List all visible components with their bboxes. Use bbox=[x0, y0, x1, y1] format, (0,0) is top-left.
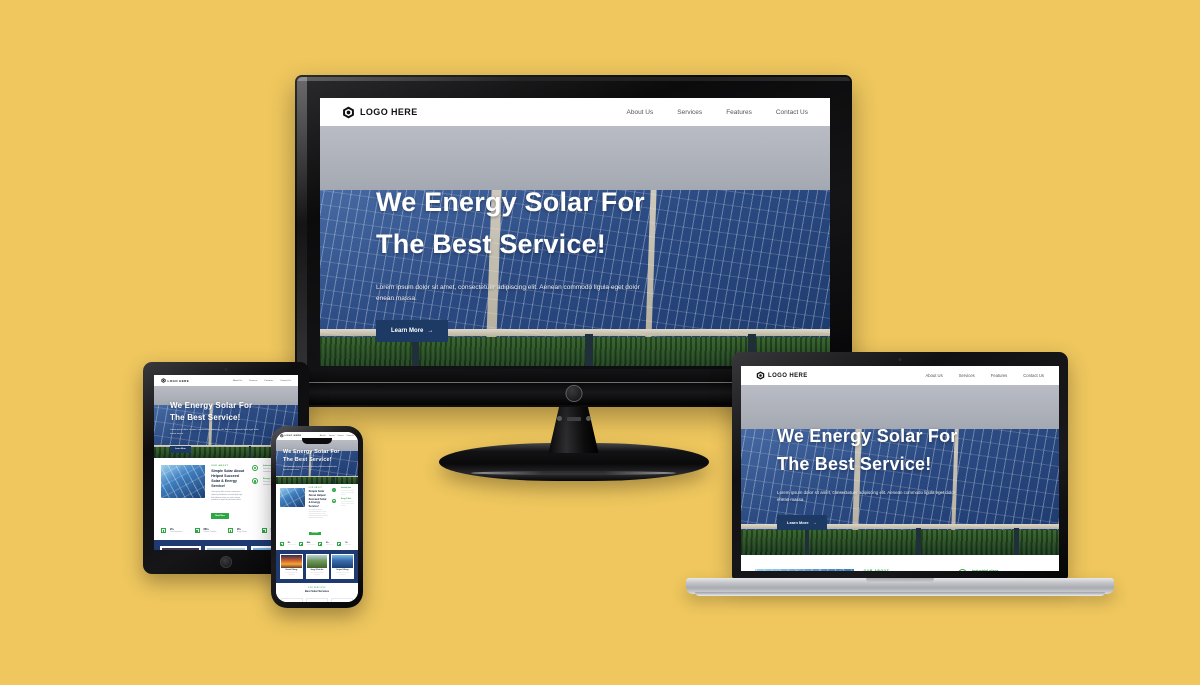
phone-screen: LOGO HERE About Us Services Features Con… bbox=[276, 432, 358, 602]
hero-learn-more-button[interactable]: Learn More → bbox=[777, 515, 827, 530]
feature-desc: Dolor sit amet consectetur elit sed do e… bbox=[341, 502, 354, 508]
feature-item: Energy Of Solar Dolor sit amet consectet… bbox=[332, 499, 354, 508]
laptop-screen: LOGO HERE About Us Services Features Con… bbox=[741, 366, 1059, 571]
hexagon-logo-icon bbox=[756, 371, 765, 380]
hero-heading-line1: We Energy Solar For bbox=[283, 448, 348, 456]
monitor-screen: LOGO HERE About Us Services Features Con… bbox=[320, 98, 830, 366]
hero-paragraph: Lorem ipsum dolor sit amet, consectetuer… bbox=[170, 429, 265, 436]
home-button-icon[interactable] bbox=[221, 557, 231, 567]
stat-item: 25+ Years Experience bbox=[161, 528, 191, 533]
menu-item-services[interactable]: Services bbox=[959, 373, 975, 378]
services-heading: Best Solar Services bbox=[281, 590, 353, 594]
front-camera-icon bbox=[225, 368, 228, 371]
about-heading: Simple Solar About Helped Succeed Solar … bbox=[309, 490, 329, 509]
menu-item-features[interactable]: Features bbox=[991, 373, 1008, 378]
laptop-open-notch bbox=[866, 578, 934, 583]
website-page-desktop: LOGO HERE About Us Services Features Con… bbox=[320, 98, 830, 366]
feature-item: Industrial plans Dolor sit amet consecte… bbox=[332, 488, 354, 497]
hero-heading-line1: We Energy Solar For bbox=[777, 423, 1021, 451]
about-photo bbox=[280, 488, 305, 507]
hero-learn-more-button[interactable]: Learn More → bbox=[376, 320, 448, 342]
content-card[interactable]: Designer Of Energy Lorem ipsum dolor sit… bbox=[331, 554, 354, 579]
stat-label: Happy Clients bbox=[326, 545, 333, 546]
stat-item: 860+ Projects Complete bbox=[299, 542, 316, 546]
site-menu: About Us Services Features Contact Us bbox=[233, 380, 291, 382]
hero-copy: We Energy Solar For The Best Service! Lo… bbox=[170, 400, 281, 454]
services-grid: Energy Of Solar Lorem ipsum dolor sit am… bbox=[281, 598, 353, 602]
hero-heading-line2: The Best Service! bbox=[283, 456, 348, 464]
industrial-plan-icon bbox=[332, 488, 336, 492]
menu-item-about[interactable]: About Us bbox=[320, 436, 326, 437]
about-heading: Simple Solar About Helped Succeed Solar … bbox=[211, 469, 246, 490]
card-desc: Lorem ipsum dolor sit amet consectetuer. bbox=[332, 573, 353, 578]
stat-label: Years Experience bbox=[170, 532, 182, 533]
green-hills-photo bbox=[307, 555, 328, 568]
smartphone-device[interactable]: LOGO HERE About Us Services Features Con… bbox=[271, 426, 363, 608]
menu-item-contact[interactable]: Contact Us bbox=[347, 436, 354, 437]
hexagon-logo-icon bbox=[280, 434, 284, 438]
about-section: OUR ABOUT Simple Solar About Helped Succ… bbox=[741, 555, 1059, 571]
hero-learn-more-button[interactable]: Learn More bbox=[170, 446, 191, 453]
about-feature-list: Industrial plans Dolor sit amet consecte… bbox=[958, 569, 1045, 571]
monitor-neck bbox=[549, 405, 599, 453]
plug-icon bbox=[195, 528, 200, 533]
laptop-foot-edge bbox=[695, 592, 1106, 596]
content-card[interactable]: Energy Of Solar Sun Lorem ipsum dolor si… bbox=[306, 554, 329, 579]
stat-value: 25+ bbox=[170, 528, 182, 531]
about-read-more-button[interactable]: Read More bbox=[211, 513, 229, 519]
brand-logo[interactable]: LOGO HERE bbox=[342, 106, 418, 119]
button-label: Learn More bbox=[391, 328, 423, 334]
sunset-windmill-photo bbox=[281, 555, 302, 568]
laptop-device[interactable]: LOGO HERE About Us Services Features Con… bbox=[686, 352, 1114, 602]
sunset-windmill-photo bbox=[162, 548, 199, 550]
stat-value: 70+ bbox=[345, 542, 351, 544]
tree-icon bbox=[262, 528, 267, 533]
feature-title: Energy Of Solar bbox=[341, 499, 354, 500]
stat-value: 95+ bbox=[326, 542, 333, 544]
about-read-more-button[interactable]: Read More bbox=[309, 532, 322, 536]
hero-heading-line2: The Best Service! bbox=[376, 224, 769, 266]
monitor-neck-detail bbox=[557, 415, 591, 422]
stat-label: Years Experience bbox=[288, 545, 297, 546]
laptop-base bbox=[686, 578, 1114, 594]
about-body: OUR ABOUT Simple Solar About Helped Succ… bbox=[211, 465, 246, 521]
hero-paragraph: Lorem ipsum dolor sit amet, consectetuer… bbox=[376, 282, 646, 304]
grass-layer bbox=[741, 530, 1059, 556]
arrow-right-icon: → bbox=[813, 520, 817, 525]
front-camera-icon bbox=[899, 358, 902, 361]
about-body: OUR ABOUT Simple Solar About Helped Succ… bbox=[864, 569, 948, 571]
cards-band: Renewal Of Energy Lorem ipsum dolor sit … bbox=[276, 550, 358, 583]
menu-item-services[interactable]: Services bbox=[677, 109, 702, 116]
about-photo bbox=[161, 465, 205, 498]
brand-name: LOGO HERE bbox=[360, 107, 418, 117]
menu-item-features[interactable]: Features bbox=[338, 436, 344, 437]
brand-name: LOGO HERE bbox=[285, 435, 302, 437]
feature-title: Industrial plans bbox=[341, 488, 354, 489]
industrial-plan-icon bbox=[958, 569, 967, 571]
service-card[interactable]: Industrial Solutions Lorem ipsum dolor s… bbox=[306, 598, 328, 602]
about-body: OUR ABOUT Simple Solar About Helped Succ… bbox=[309, 488, 329, 538]
hero-paragraph: Lorem ipsum dolor sit amet, consectetuer… bbox=[777, 489, 957, 504]
bezel-gloss-top bbox=[297, 77, 850, 81]
brand-name: LOGO HERE bbox=[168, 379, 190, 383]
brand-logo[interactable]: LOGO HERE bbox=[161, 378, 189, 383]
plug-icon bbox=[299, 542, 303, 546]
leaf-icon bbox=[228, 528, 233, 533]
hero-section: We Energy Solar For The Best Service! Lo… bbox=[154, 386, 298, 458]
about-section: OUR ABOUT Simple Solar About Helped Succ… bbox=[276, 484, 358, 542]
menu-item-about[interactable]: About Us bbox=[233, 380, 242, 382]
button-label: Learn More bbox=[175, 448, 186, 450]
stat-value: 95+ bbox=[237, 528, 247, 531]
hexagon-logo-icon bbox=[161, 378, 166, 383]
laptop-lid: LOGO HERE About Us Services Features Con… bbox=[732, 352, 1068, 579]
stat-item: 70+ Expert Team bbox=[337, 542, 354, 546]
about-feature-list: Industrial plans Dolor sit amet consecte… bbox=[332, 488, 354, 510]
service-card[interactable]: Energy Of Solar Lorem ipsum dolor sit am… bbox=[281, 598, 303, 602]
menu-item-features[interactable]: Features bbox=[265, 380, 274, 382]
stat-value: 25+ bbox=[288, 542, 297, 544]
hero-section: We Energy Solar For The Best Service! Lo… bbox=[276, 440, 358, 484]
site-navbar: LOGO HERE About Us Services Features Con… bbox=[320, 98, 830, 126]
about-eyebrow: OUR ABOUT bbox=[211, 465, 246, 467]
menu-item-services[interactable]: Services bbox=[249, 380, 257, 382]
feature-desc: Dolor sit amet consectetur elit sed do e… bbox=[341, 491, 354, 497]
hero-section: We Energy Solar For The Best Service! Lo… bbox=[320, 126, 830, 366]
brand-logo[interactable]: LOGO HERE bbox=[756, 371, 808, 380]
arrow-right-icon: → bbox=[427, 328, 433, 334]
stat-value: 860+ bbox=[307, 542, 316, 544]
about-eyebrow: OUR ABOUT bbox=[864, 569, 948, 571]
content-card[interactable]: Renewal Of Energy Lorem ipsum dolor sit … bbox=[160, 546, 201, 550]
button-label: Learn More bbox=[787, 520, 809, 525]
phone-notch bbox=[302, 438, 332, 444]
about-paragraph: Lorem ipsum dolor sit amet, consectetuer… bbox=[309, 510, 329, 520]
about-paragraph: Lorem ipsum dolor sit amet, consectetuer… bbox=[211, 492, 246, 503]
site-menu: About Us Services Features Contact Us bbox=[627, 109, 809, 116]
menu-item-services[interactable]: Services bbox=[329, 436, 335, 437]
about-eyebrow: OUR ABOUT bbox=[309, 488, 329, 489]
energy-solar-icon bbox=[332, 499, 336, 503]
stat-item: 95+ Happy Clients bbox=[228, 528, 258, 533]
site-menu: About Us Services Features Contact Us bbox=[320, 436, 354, 437]
hero-heading-line2: The Best Service! bbox=[170, 412, 281, 424]
about-photo bbox=[755, 569, 854, 571]
card-desc: Lorem ipsum dolor sit amet consectetuer. bbox=[307, 573, 328, 578]
hero-copy: We Energy Solar For The Best Service! Lo… bbox=[376, 182, 769, 342]
menu-item-contact[interactable]: Contact Us bbox=[280, 380, 291, 382]
bezel-gloss-left bbox=[297, 77, 307, 405]
hero-heading-line1: We Energy Solar For bbox=[376, 182, 769, 224]
hero-heading-line1: We Energy Solar For bbox=[170, 400, 281, 412]
stat-label: Projects Complete bbox=[307, 545, 316, 546]
service-card[interactable]: Renewable Power Lorem ipsum dolor sit am… bbox=[331, 598, 353, 602]
menu-item-contact[interactable]: Contact Us bbox=[776, 109, 808, 116]
stat-item: 25+ Years Experience bbox=[280, 542, 297, 546]
site-menu: About Us Services Features Contact Us bbox=[925, 373, 1044, 378]
content-card[interactable]: Renewal Of Energy Lorem ipsum dolor sit … bbox=[280, 554, 303, 579]
stats-row: 25+ Years Experience 860+ Projects Compl… bbox=[276, 542, 358, 550]
stat-item: 95+ Happy Clients bbox=[318, 542, 335, 546]
stat-item: 860+ Projects Complete bbox=[195, 528, 225, 533]
industrial-plan-icon bbox=[252, 465, 258, 471]
hero-copy: We Energy Solar For The Best Service! Lo… bbox=[283, 448, 348, 484]
website-page-laptop: LOGO HERE About Us Services Features Con… bbox=[741, 366, 1059, 571]
hero-copy: We Energy Solar For The Best Service! Lo… bbox=[777, 423, 1021, 530]
feature-item: Industrial plans Dolor sit amet consecte… bbox=[958, 569, 1045, 571]
stat-label: Happy Clients bbox=[237, 532, 247, 533]
feature-title: Industrial plans bbox=[972, 569, 1045, 571]
stat-label: Expert Team bbox=[345, 545, 351, 546]
hero-paragraph: Lorem ipsum dolor sit amet, consectetuer… bbox=[283, 467, 339, 472]
services-section: OUR SERVICES Best Solar Services Energy … bbox=[276, 583, 358, 602]
site-navbar: LOGO HERE About Us Services Features Con… bbox=[154, 375, 298, 386]
leaf-icon bbox=[318, 542, 322, 546]
battery-icon bbox=[280, 542, 284, 546]
brand-logo[interactable]: LOGO HERE bbox=[280, 434, 301, 438]
mockup-stage: LOGO HERE About Us Services Features Con… bbox=[0, 0, 1200, 685]
services-heading-block: OUR SERVICES Best Solar Services bbox=[281, 588, 353, 594]
services-eyebrow: OUR SERVICES bbox=[281, 588, 353, 589]
stat-label: Projects Complete bbox=[204, 532, 217, 533]
content-card[interactable]: Energy Of Solar Sun Lorem ipsum dolor si… bbox=[205, 546, 246, 550]
battery-icon bbox=[161, 528, 166, 533]
hero-heading-line2: The Best Service! bbox=[777, 451, 1021, 479]
stat-value: 860+ bbox=[204, 528, 217, 531]
tree-icon bbox=[337, 542, 341, 546]
hero-section: We Energy Solar For The Best Service! Lo… bbox=[741, 385, 1059, 555]
solar-panel-photo bbox=[332, 555, 353, 568]
menu-item-about[interactable]: About Us bbox=[627, 109, 654, 116]
website-page-phone: LOGO HERE About Us Services Features Con… bbox=[276, 432, 358, 602]
green-hills-photo bbox=[207, 548, 244, 550]
card-desc: Lorem ipsum dolor sit amet consectetuer. bbox=[281, 573, 302, 578]
menu-item-features[interactable]: Features bbox=[726, 109, 752, 116]
power-button-icon[interactable] bbox=[566, 386, 581, 401]
menu-item-contact[interactable]: Contact Us bbox=[1023, 373, 1044, 378]
hexagon-logo-icon bbox=[342, 106, 355, 119]
menu-item-about[interactable]: About Us bbox=[925, 373, 942, 378]
brand-name: LOGO HERE bbox=[768, 373, 808, 379]
energy-solar-icon bbox=[252, 478, 258, 484]
site-navbar: LOGO HERE About Us Services Features Con… bbox=[741, 366, 1059, 385]
